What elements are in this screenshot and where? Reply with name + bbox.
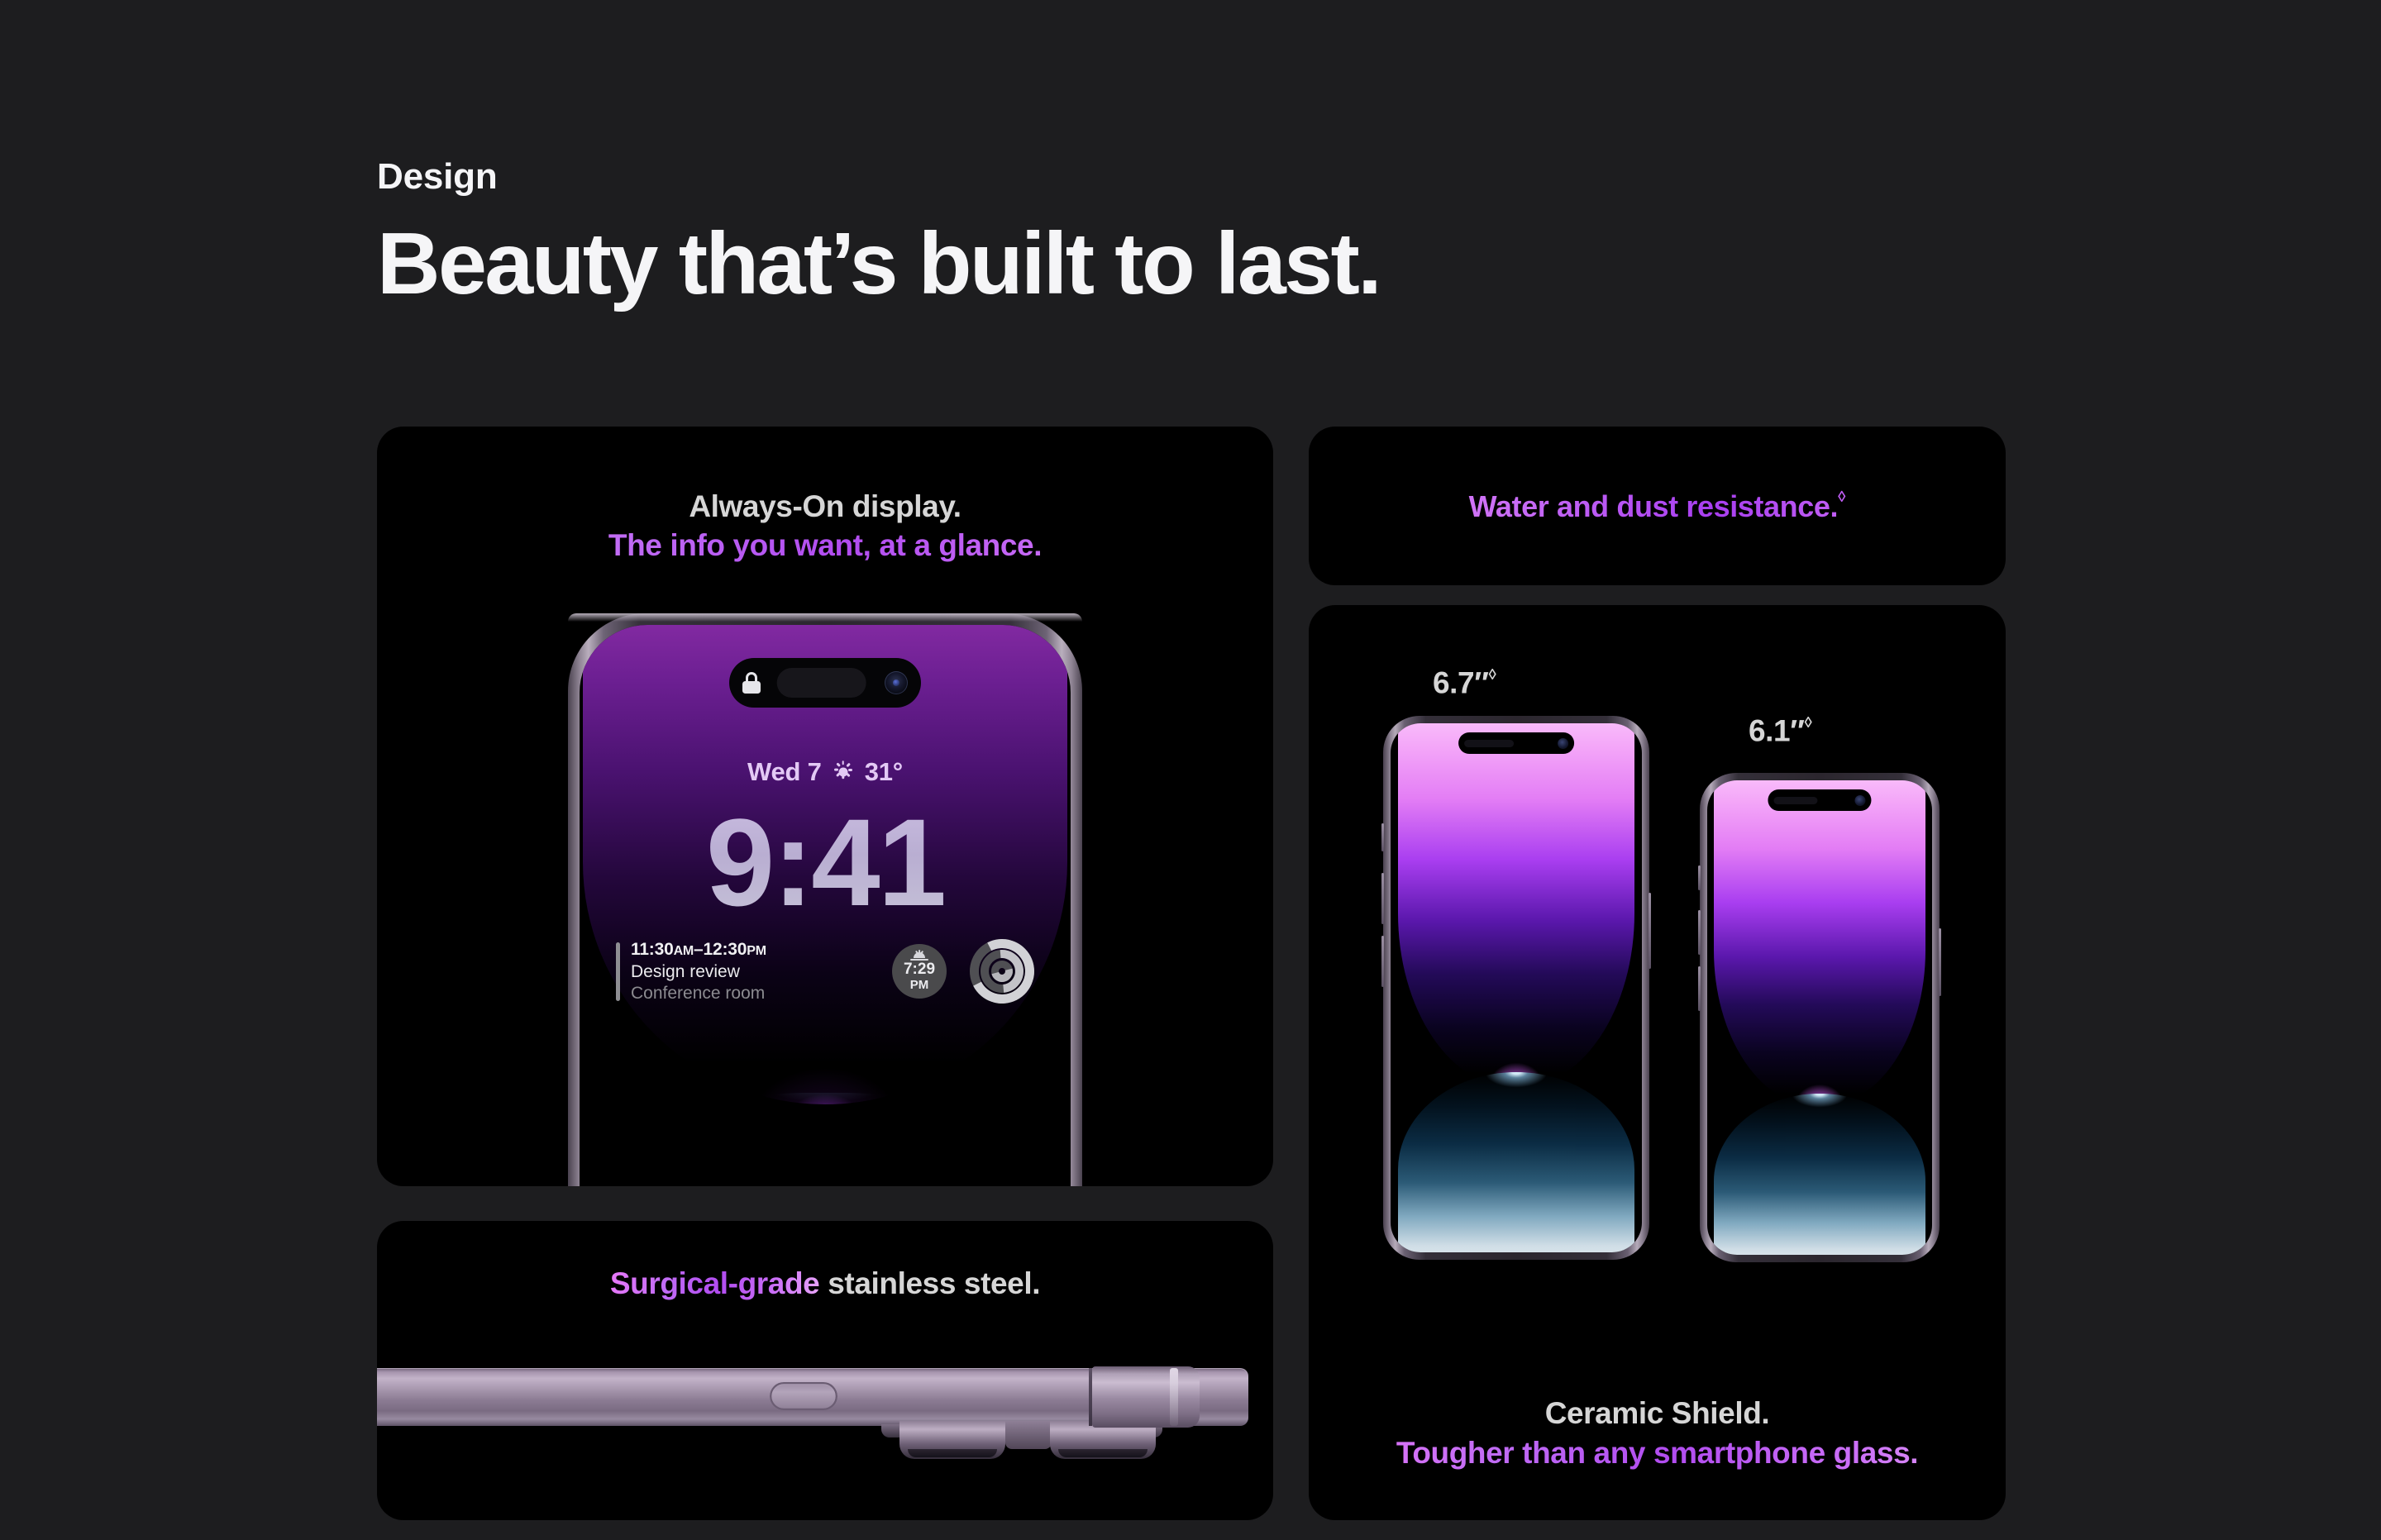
iphone-lockscreen-mockup: Wed 7 31° 9:41: [568, 613, 1082, 1186]
earpiece-speaker-icon: [1773, 797, 1817, 804]
card-stainless-steel[interactable]: Surgical-grade stainless steel.: [377, 1221, 1273, 1520]
side-button: [770, 1382, 837, 1410]
lockscreen-clock: 9:41: [580, 787, 1071, 938]
always-on-caption-line2: The info you want, at a glance.: [377, 526, 1273, 565]
calendar-event-widget[interactable]: 11:30AM–12:30PM Design review Conference…: [616, 940, 869, 1004]
footnote-marker-icon: ◊: [1489, 665, 1496, 683]
activity-rings-icon[interactable]: [970, 939, 1034, 1004]
steel-caption: Surgical-grade stainless steel.: [377, 1264, 1273, 1303]
card-always-on-display[interactable]: Always-On display. The info you want, at…: [377, 427, 1273, 1186]
front-camera-icon: [1855, 795, 1866, 806]
size-label-large-value: 6.7″: [1433, 666, 1489, 700]
footnote-marker-icon: ◊: [1805, 713, 1812, 731]
device-screen: Wed 7 31° 9:41: [580, 625, 1071, 1186]
event-title: Design review: [631, 962, 869, 982]
section-header: Design Beauty that’s built to last.: [377, 157, 1380, 311]
front-camera-icon: [885, 671, 908, 694]
wallpaper-reflection: [1398, 1072, 1634, 1252]
device-screen: [1707, 780, 1932, 1255]
lockscreen-widget-row: 11:30AM–12:30PM Design review Conference…: [616, 939, 1034, 1004]
sunset-widget[interactable]: 7:29 PM: [892, 944, 947, 999]
event-time-separator: –: [694, 940, 703, 959]
card-ceramic-shield[interactable]: 6.7″◊ 6.1″◊: [1309, 605, 2006, 1520]
earpiece-speaker-icon: [1464, 740, 1514, 747]
steel-caption-highlight: Surgical-grade: [610, 1266, 819, 1300]
ceramic-caption: Ceramic Shield. Tougher than any smartph…: [1309, 1394, 2006, 1472]
lockscreen-date-weather: Wed 7 31°: [580, 757, 1071, 787]
event-time-range: 11:30AM–12:30PM: [631, 940, 869, 960]
front-camera-icon: [1558, 738, 1568, 749]
wallpaper-reflection: [1714, 1094, 1925, 1255]
wallpaper-dome: [1714, 780, 1925, 1108]
event-end-time: 12:30: [704, 940, 747, 959]
event-location: Conference room: [631, 984, 869, 1004]
iphone-pro-max-mockup: [1383, 716, 1649, 1260]
steel-end-cap: [1092, 1366, 1200, 1428]
size-label-large: 6.7″◊: [1433, 665, 1496, 701]
event-start-time: 11:30: [631, 940, 674, 959]
sunset-icon: [910, 951, 928, 961]
ceramic-caption-line1: Ceramic Shield.: [1309, 1394, 2006, 1433]
card-water-dust-resistance[interactable]: Water and dust resistance.◊: [1309, 427, 2006, 585]
island-pill: [777, 668, 866, 698]
size-label-small: 6.1″◊: [1749, 713, 1812, 749]
footnote-marker-icon: ◊: [1838, 488, 1845, 505]
lockscreen-temperature: 31°: [865, 757, 903, 787]
steel-caption-rest: stainless steel.: [819, 1266, 1040, 1300]
wallpaper-dome: [1398, 723, 1634, 1089]
lockscreen-date: Wed 7: [747, 757, 822, 787]
sun-icon: [833, 761, 854, 783]
sunset-ampm: PM: [910, 978, 929, 992]
event-end-ampm: PM: [747, 944, 766, 958]
dynamic-island: [1458, 732, 1574, 754]
water-caption: Water and dust resistance.◊: [1309, 487, 2006, 526]
size-comparison: 6.7″◊ 6.1″◊: [1309, 605, 2006, 1432]
page-title: Beauty that’s built to last.: [377, 218, 1380, 310]
design-section: Design Beauty that’s built to last. Alwa…: [0, 0, 2381, 1540]
camera-lens-bridge: [1005, 1421, 1052, 1449]
lock-icon: [742, 672, 761, 694]
iphone-side-profile-mockup: [377, 1330, 1273, 1520]
dynamic-island: [1768, 789, 1871, 811]
wallpaper-reflection: [583, 1093, 1067, 1186]
event-start-ampm: AM: [674, 944, 694, 958]
always-on-caption-line1: Always-On display.: [377, 487, 1273, 526]
always-on-caption: Always-On display. The info you want, at…: [377, 487, 1273, 565]
size-label-small-value: 6.1″: [1749, 714, 1805, 748]
device-screen: [1391, 723, 1642, 1252]
dynamic-island[interactable]: [729, 658, 921, 708]
iphone-pro-mockup: [1700, 773, 1940, 1262]
water-caption-text: Water and dust resistance.: [1469, 489, 1838, 523]
ceramic-caption-line2: Tougher than any smartphone glass.: [1309, 1433, 2006, 1472]
sunset-time: 7:29: [904, 961, 935, 978]
section-eyebrow: Design: [377, 157, 1380, 197]
camera-lens-1: [899, 1421, 1005, 1459]
